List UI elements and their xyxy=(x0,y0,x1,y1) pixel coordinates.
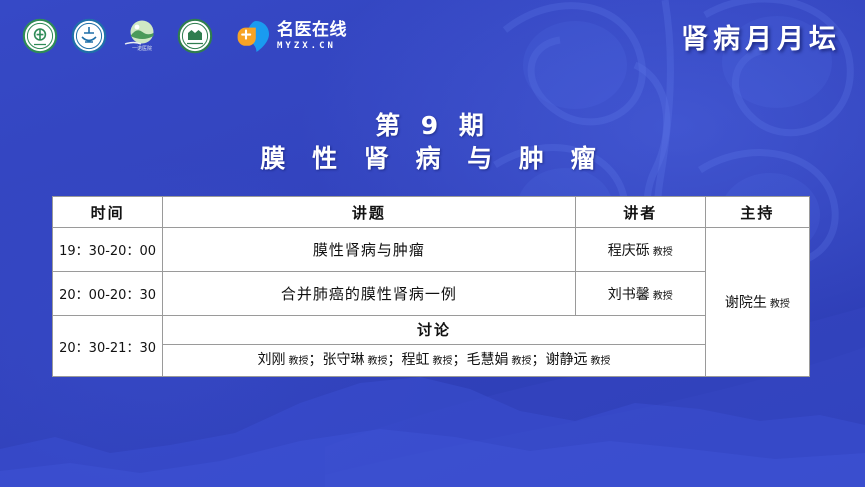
host-name: 谢院生 xyxy=(725,295,767,311)
brand-name-en: MYZX.CN xyxy=(277,42,347,51)
session-time: 19：30-20：00 xyxy=(53,228,163,272)
column-header-time: 时间 xyxy=(53,197,163,228)
institution-seal-1-icon xyxy=(22,18,58,54)
table-header-row: 时间 讲题 讲者 主持 xyxy=(53,197,810,228)
session-speaker: 程庆砾教授 xyxy=(575,228,705,272)
participant-title: 教授 xyxy=(590,356,610,367)
partner-logo-strip: 一诺医院 名医在线 MYZX.CN xyxy=(22,18,347,54)
brand-text: 名医在线 MYZX.CN xyxy=(277,22,347,51)
participant-name: 谢静远 xyxy=(545,352,587,368)
session-topic: 膜 性 肾 病 与 肿 瘤 xyxy=(0,143,865,176)
session-speaker: 刘书馨教授 xyxy=(575,272,705,316)
participant-title: 教授 xyxy=(367,356,387,367)
location-pin-plus-icon xyxy=(236,19,270,53)
agenda-table: 时间 讲题 讲者 主持 19：30-20：00 膜性肾病与肿瘤 程庆砾教授 谢院… xyxy=(52,196,810,377)
program-series-title: 肾病月月坛 xyxy=(681,17,849,56)
column-header-host: 主持 xyxy=(705,197,809,228)
participant-name: 张守琳 xyxy=(322,352,364,368)
svg-text:一诺医院: 一诺医院 xyxy=(132,45,152,52)
session-time: 20：00-20：30 xyxy=(53,272,163,316)
institution-seal-4-icon xyxy=(177,18,213,54)
discussion-time: 20：30-21：30 xyxy=(53,316,163,377)
speaker-title: 教授 xyxy=(653,247,673,258)
column-header-speaker: 讲者 xyxy=(575,197,705,228)
speaker-title: 教授 xyxy=(653,291,673,302)
participant-title: 教授 xyxy=(432,356,452,367)
institution-logo-hospital-icon: 一诺医院 xyxy=(120,19,164,53)
slide-header: 一诺医院 名医在线 MYZX.CN 肾 xyxy=(0,0,865,72)
participant-name: 刘刚 xyxy=(257,352,285,368)
discussion-heading: 讨论 xyxy=(163,316,705,345)
table-row-discussion: 20：30-21：30 讨论 刘刚教授；张守琳教授；程虹教授；毛慧娟教授；谢静远… xyxy=(53,316,810,377)
table-row: 19：30-20：00 膜性肾病与肿瘤 程庆砾教授 谢院生教授 xyxy=(53,228,810,272)
institution-seal-2-icon xyxy=(71,18,107,54)
participant-separator: ； xyxy=(531,352,545,368)
discussion-cell: 讨论 刘刚教授；张守琳教授；程虹教授；毛慧娟教授；谢静远教授 xyxy=(163,316,706,377)
speaker-name: 刘书馨 xyxy=(608,287,650,303)
participant-name: 毛慧娟 xyxy=(466,352,508,368)
issue-number: 第 9 期 xyxy=(0,110,865,141)
participant-name: 程虹 xyxy=(401,352,429,368)
discussion-participants: 刘刚教授；张守琳教授；程虹教授；毛慧娟教授；谢静远教授 xyxy=(163,345,705,376)
session-topic-cell: 膜性肾病与肿瘤 xyxy=(163,228,576,272)
table-row: 20：00-20：30 合并肺癌的膜性肾病一例 刘书馨教授 xyxy=(53,272,810,316)
presentation-slide: 一诺医院 名医在线 MYZX.CN 肾 xyxy=(0,0,865,487)
brand-name-cn: 名医在线 xyxy=(277,22,347,39)
participant-separator: ； xyxy=(452,352,466,368)
brand-logo: 名医在线 MYZX.CN xyxy=(236,19,347,53)
session-host: 谢院生教授 xyxy=(705,228,809,377)
agenda-table-wrapper: 时间 讲题 讲者 主持 19：30-20：00 膜性肾病与肿瘤 程庆砾教授 谢院… xyxy=(52,196,810,377)
participant-separator: ； xyxy=(308,352,322,368)
participant-title: 教授 xyxy=(288,356,308,367)
host-title: 教授 xyxy=(770,299,790,310)
participant-title: 教授 xyxy=(511,356,531,367)
speaker-name: 程庆砾 xyxy=(608,243,650,259)
slide-title-block: 第 9 期 膜 性 肾 病 与 肿 瘤 xyxy=(0,110,865,176)
session-topic-cell: 合并肺癌的膜性肾病一例 xyxy=(163,272,576,316)
participant-separator: ； xyxy=(387,352,401,368)
column-header-topic: 讲题 xyxy=(163,197,576,228)
